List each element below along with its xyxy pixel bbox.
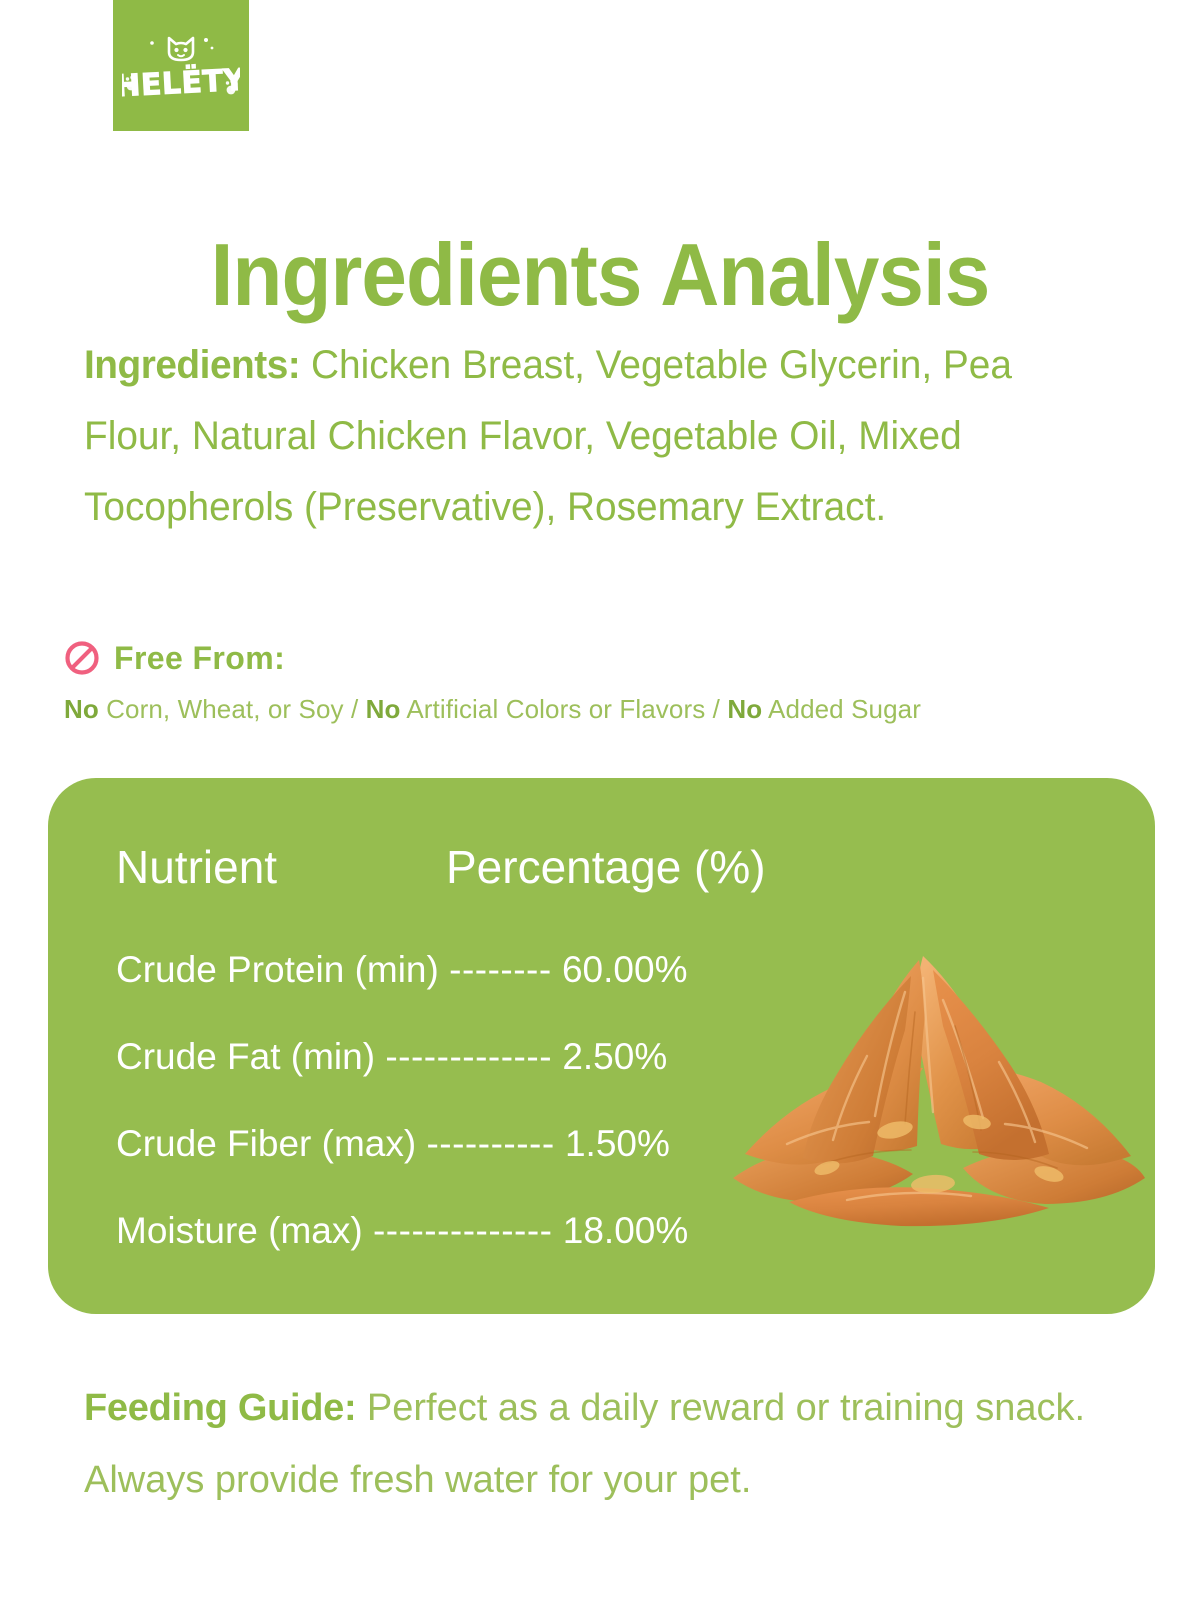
nutrient-name: Crude Fiber (max) xyxy=(116,1123,416,1164)
nutrient-name: Crude Protein (min) xyxy=(116,949,439,990)
table-row: Crude Protein (min) -------- 60.00% xyxy=(116,926,1076,1013)
free-from-prefix-0: No xyxy=(64,694,99,724)
column-header-nutrient: Nutrient xyxy=(116,840,446,894)
nutrition-panel: Nutrient Percentage (%) Crude Protein (m… xyxy=(48,778,1155,1314)
nutrient-value: 60.00% xyxy=(562,949,688,990)
table-row: Crude Fat (min) ------------- 2.50% xyxy=(116,1013,1076,1100)
prohibition-icon xyxy=(64,640,100,676)
leader-dashes: ---------- xyxy=(426,1123,554,1164)
nutrient-name: Crude Fat (min) xyxy=(116,1036,375,1077)
nutrient-value: 2.50% xyxy=(562,1036,667,1077)
leader-dashes: ------------- xyxy=(385,1036,552,1077)
svg-text:HELËTY: HELËTY xyxy=(122,61,240,104)
table-row: Moisture (max) -------------- 18.00% xyxy=(116,1187,1076,1274)
free-from-heading: Free From: xyxy=(64,636,1154,680)
free-from-prefix-1: No xyxy=(366,694,401,724)
free-from-separator-1: / xyxy=(705,694,727,724)
free-from-text-2: Added Sugar xyxy=(762,694,921,724)
feeding-guide-label: Feeding Guide: xyxy=(84,1387,356,1429)
brand-logo-block: HELËTY xyxy=(113,0,249,131)
nutrient-value: 1.50% xyxy=(565,1123,670,1164)
column-header-percentage: Percentage (%) xyxy=(446,840,926,894)
table-row: Crude Fiber (max) ---------- 1.50% xyxy=(116,1100,1076,1187)
ingredients-section: Ingredients: Chicken Breast, Vegetable G… xyxy=(84,330,1093,543)
page-title: Ingredients Analysis xyxy=(42,229,1158,321)
nutrient-value: 18.00% xyxy=(563,1210,689,1251)
feeding-guide-section: Feeding Guide: Perfect as a daily reward… xyxy=(84,1372,1134,1516)
free-from-text-0: Corn, Wheat, or Soy xyxy=(99,694,344,724)
free-from-section: Free From: No Corn, Wheat, or Soy / No A… xyxy=(64,636,1154,725)
nutrition-table-header: Nutrient Percentage (%) xyxy=(116,840,1076,894)
leader-dashes: -------------- xyxy=(373,1210,553,1251)
free-from-separator-0: / xyxy=(344,694,366,724)
nutrition-panel-inner: Nutrient Percentage (%) Crude Protein (m… xyxy=(68,778,1155,1314)
cat-face-logo: HELËTY xyxy=(122,26,240,106)
free-from-prefix-2: No xyxy=(727,694,762,724)
nutrient-name: Moisture (max) xyxy=(116,1210,363,1251)
free-from-text-1: Artificial Colors or Flavors xyxy=(400,694,705,724)
ingredients-analysis-page: HELËTY Ingredients Analysis Ingredients:… xyxy=(0,0,1200,1600)
free-from-items: No Corn, Wheat, or Soy / No Artificial C… xyxy=(64,694,1154,725)
nutrition-table-rows: Crude Protein (min) -------- 60.00% Crud… xyxy=(116,926,1076,1274)
free-from-title: Free From: xyxy=(114,640,285,677)
leader-dashes: -------- xyxy=(449,949,552,990)
ingredients-label: Ingredients: xyxy=(84,343,300,387)
